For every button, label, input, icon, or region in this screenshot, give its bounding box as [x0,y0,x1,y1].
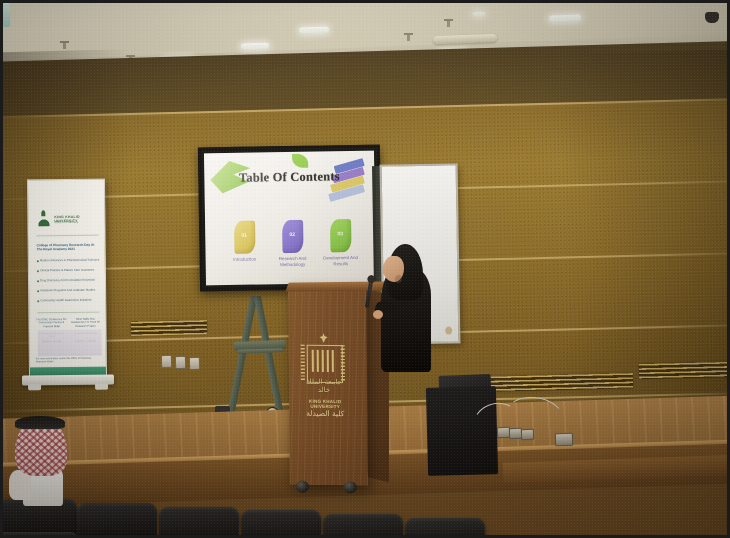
podium-caster [344,481,357,493]
wall-socket[interactable] [175,356,186,369]
podium-college-arabic: كلية الصيدلة [297,409,353,419]
water-bottle [3,3,10,27]
banner-heading: College of Pharmacy Research Day At The … [37,243,101,252]
banner-footer: For more information contact the Office … [36,357,102,364]
wall-socket[interactable] [189,357,200,370]
whiteboard-logo-icon [445,327,452,335]
podium-caster [296,481,309,493]
attendee-agal [15,416,65,429]
emblem-ornament-left [301,345,305,381]
ceiling-light [549,14,581,21]
crest-icon [320,333,328,343]
banner-department: Office of Pharmacy [54,220,78,224]
air-vent [131,320,207,336]
green-leaf-icon [292,154,308,168]
presenter-face [383,256,404,282]
banner-base [22,375,114,386]
roll-up-banner: KING KHALID UNIVERSITY Office of Pharmac… [27,179,107,380]
wall-shadow-right [558,48,730,453]
toc-ribbon-icon: 02 [282,220,304,253]
toc-item: 01 Introduction [219,220,270,262]
lecture-hall-photo: KING KHALID UNIVERSITY Office of Pharmac… [0,0,730,538]
banner-divider [37,312,99,314]
podium: جامعة الملك خالد KING KHALID UNIVERSITY … [288,285,368,486]
banner-bullet: Academic Programs And Graduate Studies [40,289,100,293]
toc-number: 02 [282,232,303,238]
auditorium-seat[interactable] [241,510,321,538]
sprinkler-head [447,19,450,27]
banner-bullet: Drug Discovery And Formulation Research [40,279,100,283]
toc-ribbon-icon: 01 [234,221,256,254]
banner-bullet: Modern Advances in Pharmaceutical Scienc… [40,259,100,263]
banner-foot-right [95,384,108,390]
toc-number: 01 [234,233,255,239]
toc-caption: Development And Results [316,255,366,267]
slide-surface: Table Of Contents 01 Introduction 02 Res… [204,151,376,286]
auditorium-seat[interactable] [323,514,403,538]
university-emblem-icon: جامعة الملك خالد [302,333,347,396]
wall-socket[interactable] [161,355,172,368]
auditorium-seat[interactable] [159,507,239,538]
toc-ribbon-icon: 03 [330,219,352,252]
banner-photo-strip [38,330,102,357]
podium-organization-arabic: جامعة الملك خالد [302,378,346,395]
ceiling-light [241,43,269,50]
auditorium-seat[interactable] [405,518,485,538]
banner-bullet: Community Health Awareness Initiatives [40,299,100,303]
podium-organization-english: KING KHALID UNIVERSITY [297,399,353,410]
toc-item: 02 Research And Methodology [267,220,318,268]
auditorium-seat[interactable] [0,532,79,538]
banner-column-title: Short Skills Of A Researcher For Proof O… [70,318,100,328]
banner-bullet: Clinical Practice & Patient Care Outcome… [40,269,100,273]
security-camera-icon [705,12,719,23]
toc-caption: Introduction [220,256,270,262]
presenter-hand [373,310,383,319]
sprinkler-head [407,33,410,41]
toc-caption: Research And Methodology [268,256,318,268]
slide-toc-row: 01 Introduction 02 Research And Methodol… [205,219,376,286]
attendee [9,408,79,498]
university-logo-icon [36,214,51,226]
slide-title: Table Of Contents [204,169,374,187]
ceiling-light [473,12,485,16]
auditorium-seat[interactable] [77,503,157,538]
air-vent [639,362,730,379]
presentation-display[interactable]: Table Of Contents 01 Introduction 02 Res… [198,145,382,292]
banner-foot-left [28,384,41,390]
banner-column-title: First CME Conference On Community Practi… [36,318,66,328]
toc-number: 03 [330,231,351,237]
ceiling-light [299,26,329,33]
toc-item: 03 Development And Results [315,219,366,267]
banner-divider [37,235,99,237]
presenter [373,244,439,372]
sprinkler-head [63,41,66,49]
